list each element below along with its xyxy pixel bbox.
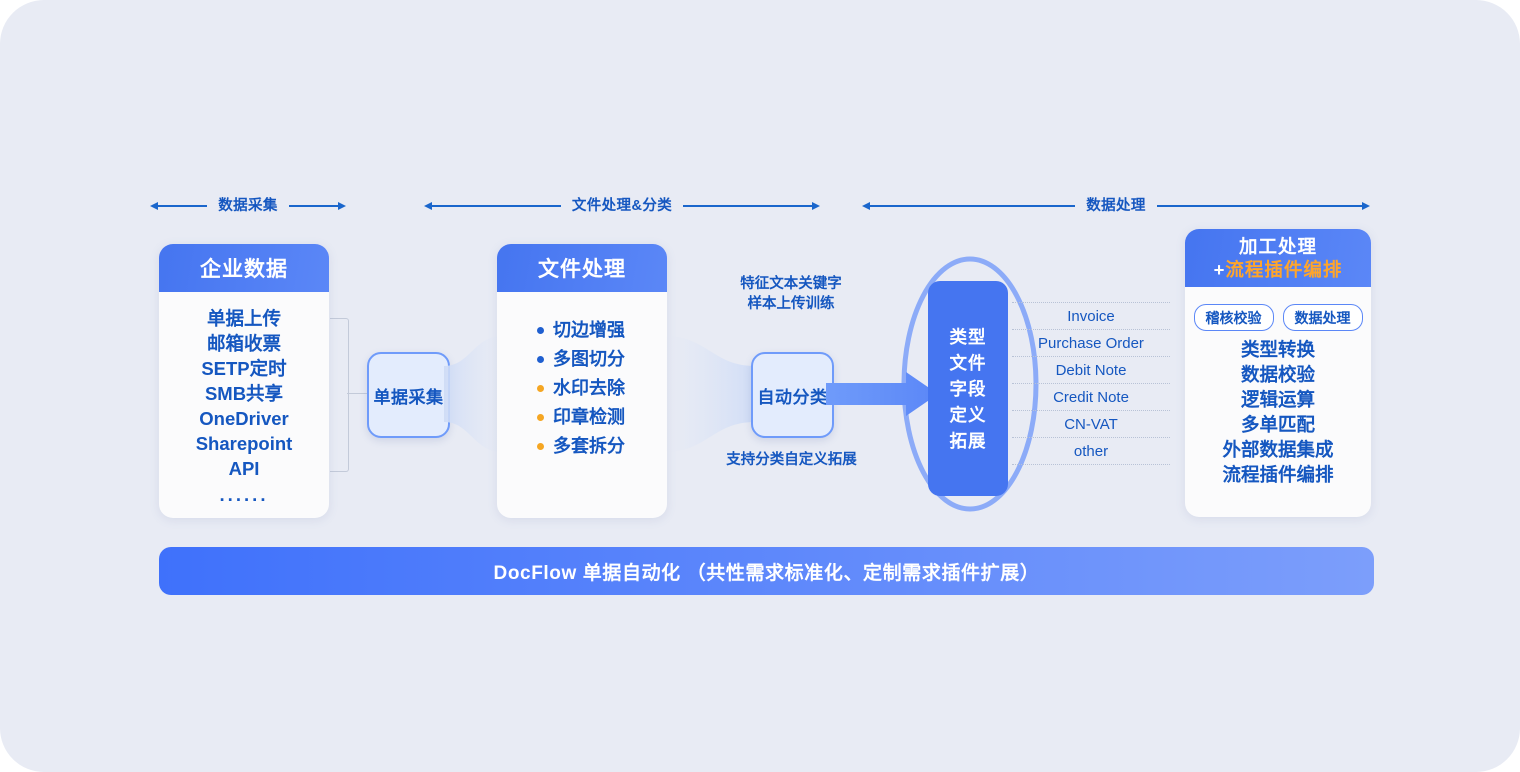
bullet-dot-icon: [537, 443, 544, 450]
list-item: API: [159, 456, 329, 481]
ribbon-collect-to-file: [444, 336, 502, 452]
list-item: 印章检测: [537, 403, 667, 432]
phase-label: 文件处理&分类: [561, 199, 683, 214]
card-enterprise-data: 企业数据 单据上传 邮箱收票 SETP定时 SMB共享 OneDriver Sh…: [159, 244, 329, 518]
bullet-dot-icon: [537, 414, 544, 421]
note-classify-top: 特征文本关键字 样本上传训练: [715, 274, 867, 314]
list-item: other: [1012, 438, 1170, 465]
arrow-line: [432, 205, 561, 206]
document-type-list: Invoice Purchase Order Debit Note Credit…: [1012, 302, 1170, 465]
ribbon-file-to-classify: [665, 336, 755, 452]
diagram-canvas: 数据采集 文件处理&分类 数据处理 企业数据 单据上传 邮箱收票 SETP定时 …: [0, 0, 1520, 772]
type-card-label: 类型 文件 字段 定义 拓展: [950, 324, 987, 454]
list-item: CN-VAT: [1012, 411, 1170, 438]
card-type-definition: 类型 文件 字段 定义 拓展: [928, 281, 1008, 496]
list-item: 水印去除: [537, 374, 667, 403]
list-item: 多单匹配: [1185, 412, 1371, 437]
list-item: 多图切分: [537, 345, 667, 374]
list-item: OneDriver: [159, 406, 329, 431]
list-item: 外部数据集成: [1185, 437, 1371, 462]
card-title-highlight: 流程插件编排: [1225, 259, 1342, 280]
arrow-line: [1157, 205, 1362, 206]
list-item: 数据校验: [1185, 362, 1371, 387]
card-title-enterprise-data: 企业数据: [159, 244, 329, 292]
arrow-head-left-icon: [150, 202, 158, 210]
chip-group: 稽核校验 数据处理: [1185, 304, 1371, 331]
list-item-label: 多图切分: [553, 345, 625, 374]
arrow-head-right-icon: [812, 202, 820, 210]
phase-label: 数据采集: [207, 199, 289, 214]
phase-header-data-collection: 数据采集: [150, 186, 346, 226]
process-box-label: 单据采集: [374, 383, 444, 408]
plus-sign: +: [1214, 259, 1226, 280]
process-box-label: 自动分类: [758, 383, 828, 408]
list-item-ellipsis: ······: [159, 487, 329, 512]
list-item: 类型转换: [1185, 337, 1371, 362]
chip-audit-validation[interactable]: 稽核校验: [1194, 304, 1274, 331]
list-item: 单据上传: [159, 306, 329, 331]
card-file-processing: 文件处理 切边增强 多图切分 水印去除 印章检测: [497, 244, 667, 518]
bracket-connector: [330, 318, 349, 472]
list-item: Debit Note: [1012, 357, 1170, 384]
arrow-head-left-icon: [424, 202, 432, 210]
list-item-label: 切边增强: [553, 316, 625, 345]
phase-label: 数据处理: [1075, 199, 1157, 214]
processing-capability-list: 类型转换 数据校验 逻辑运算 多单匹配 外部数据集成 流程插件编排: [1185, 337, 1371, 487]
arrow-head-right-icon: [338, 202, 346, 210]
bullet-dot-icon: [537, 327, 544, 334]
process-box-collect: 单据采集: [367, 352, 450, 438]
file-processing-list: 切边增强 多图切分 水印去除 印章检测 多套拆分: [497, 316, 667, 461]
card-title-file-processing: 文件处理: [497, 244, 667, 292]
list-item: 逻辑运算: [1185, 387, 1371, 412]
arrow-line: [158, 205, 207, 206]
arrow-line: [683, 205, 812, 206]
list-item-label: 印章检测: [553, 403, 625, 432]
card-title-processing: 加工处理 +流程插件编排: [1185, 229, 1371, 287]
arrow-line: [289, 205, 338, 206]
list-item: 邮箱收票: [159, 331, 329, 356]
phase-header-file-processing: 文件处理&分类: [424, 186, 820, 226]
list-item: SETP定时: [159, 356, 329, 381]
chip-data-processing[interactable]: 数据处理: [1283, 304, 1363, 331]
list-item: Sharepoint: [159, 431, 329, 456]
list-item: SMB共享: [159, 381, 329, 406]
arrow-line: [870, 205, 1075, 206]
process-box-auto-classify: 自动分类: [751, 352, 834, 438]
list-item: 多套拆分: [537, 432, 667, 461]
card-processing: 加工处理 +流程插件编排 稽核校验 数据处理 类型转换 数据校验 逻辑运算 多单…: [1185, 229, 1371, 517]
list-item-label: 水印去除: [553, 374, 625, 403]
card-title-main: 加工处理: [1239, 236, 1317, 257]
bullet-dot-icon: [537, 356, 544, 363]
list-item: Purchase Order: [1012, 330, 1170, 357]
card-title-sub: +流程插件编排: [1214, 259, 1343, 280]
arrow-to-type-card-icon: [826, 372, 938, 416]
bottom-banner: DocFlow 单据自动化 （共性需求标准化、定制需求插件扩展）: [159, 547, 1374, 595]
list-item-label: 多套拆分: [553, 432, 625, 461]
arrow-head-left-icon: [862, 202, 870, 210]
list-item: Invoice: [1012, 302, 1170, 330]
phase-header-data-processing: 数据处理: [862, 186, 1370, 226]
arrow-head-right-icon: [1362, 202, 1370, 210]
enterprise-data-list: 单据上传 邮箱收票 SETP定时 SMB共享 OneDriver Sharepo…: [159, 306, 329, 512]
bullet-dot-icon: [537, 385, 544, 392]
list-item: 流程插件编排: [1185, 462, 1371, 487]
note-classify-bottom: 支持分类自定义拓展: [709, 450, 874, 470]
banner-text: DocFlow 单据自动化 （共性需求标准化、定制需求插件扩展）: [494, 558, 1040, 585]
list-item: 切边增强: [537, 316, 667, 345]
list-item: Credit Note: [1012, 384, 1170, 411]
